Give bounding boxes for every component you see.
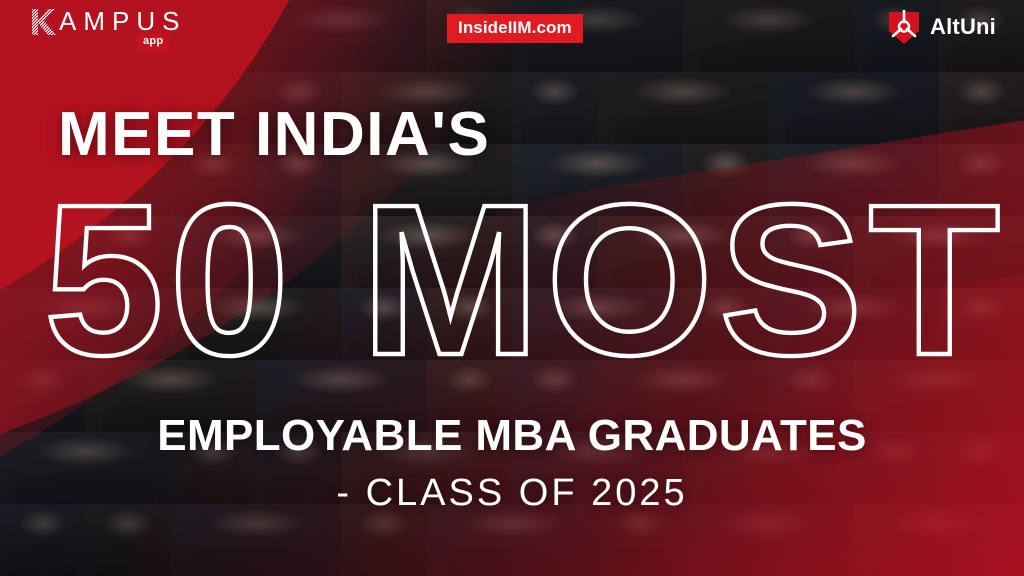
headline-big-outline: 50 MOST bbox=[44, 176, 984, 391]
insideiim-badge[interactable]: InsideIIM.com bbox=[447, 14, 583, 43]
headline-top: MEET INDIA'S bbox=[58, 104, 490, 166]
headline-big-text: 50 MOST bbox=[44, 159, 1006, 400]
headline-class-year: - CLASS OF 2025 bbox=[0, 474, 1024, 512]
kampus-monogram-icon bbox=[30, 6, 57, 36]
kampus-logo[interactable]: AMPUS app bbox=[30, 6, 186, 37]
altuni-wordmark: AltUni bbox=[930, 14, 996, 40]
altuni-shield-icon bbox=[887, 8, 921, 46]
altuni-logo[interactable]: AltUni bbox=[887, 8, 996, 46]
promotional-poster: AMPUS app InsideIIM.com AltUni MEET INDI… bbox=[0, 0, 1024, 576]
headline-subtitle: EMPLOYABLE MBA GRADUATES bbox=[0, 414, 1024, 458]
poster-header: AMPUS app InsideIIM.com AltUni bbox=[0, 0, 1024, 62]
kampus-wordmark: AMPUS bbox=[59, 6, 186, 37]
kampus-app-badge: app bbox=[137, 33, 169, 51]
